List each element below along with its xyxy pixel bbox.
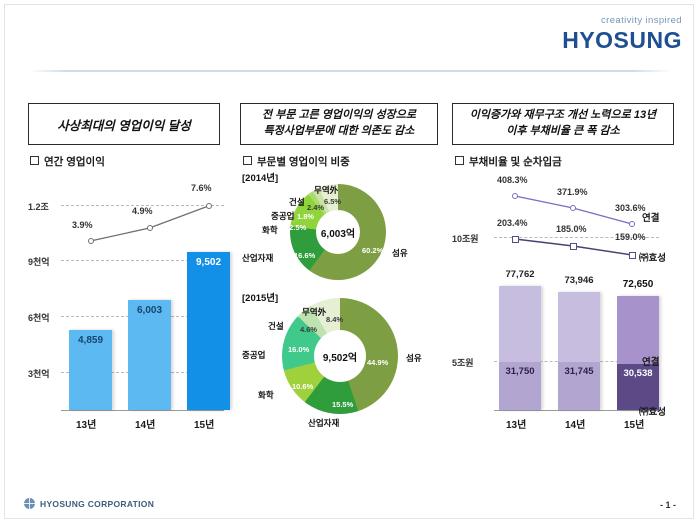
- stacked-bar-14: 31,745: [558, 292, 600, 410]
- donut-2014-pct-heavy: 1.8%: [297, 212, 314, 221]
- bar-13: 4,859: [69, 330, 112, 410]
- legend-hyosung-top: ㈜효성: [639, 250, 666, 264]
- donut-2015-label-sumyu: 섬유: [406, 352, 422, 364]
- footer-company: HYOSUNG CORPORATION: [40, 499, 154, 509]
- line-point-15: [206, 203, 212, 209]
- stacked-bar-15-total-label: 72,650: [614, 279, 662, 290]
- line-point-13: [88, 238, 94, 244]
- donut-2014-label-industrial: 산업자재: [242, 252, 273, 264]
- brand-tagline: creativity inspired: [562, 16, 682, 26]
- caption-right-text: 부채비율 및 순차입금: [469, 156, 562, 168]
- donut-2014-pct-chemical: 12.5%: [285, 223, 306, 232]
- donut-2014-label-trade: 무역外: [314, 184, 338, 196]
- bullet-square-icon: [30, 156, 39, 165]
- page-number: - 1 -: [660, 500, 676, 510]
- line1-point-14: [570, 205, 576, 211]
- brand-logo: creativity inspired HYOSUNG: [562, 16, 682, 52]
- year-tag-2014: [2014년]: [242, 170, 278, 184]
- line1-point-15: [629, 221, 635, 227]
- line1-point-13: [512, 193, 518, 199]
- donut-2014-label-sumyu: 섬유: [392, 247, 408, 259]
- donut-2014-label-heavy: 중공업: [271, 210, 294, 222]
- caption-left-text: 연간 영업이익: [44, 156, 105, 168]
- donut-2015-pct-sumyu: 44.9%: [367, 358, 388, 367]
- chart-annual-operating-profit: 1.2조 9천억 6천억 3천억 4,859 6,003 9,502 3.9% …: [28, 168, 224, 440]
- stacked-bar-14-total-label: 73,946: [555, 275, 603, 286]
- x-category-label: 13년: [76, 416, 96, 431]
- caption-right: 부채비율 및 순차입금: [455, 154, 562, 169]
- stacked-bar-13-lower-label: 31,750: [499, 362, 541, 410]
- donut-2015-label-heavy: 중공업: [242, 349, 265, 361]
- donut-2014-label-construction: 건설: [289, 196, 305, 208]
- donut-2015-pct-trade: 8.4%: [326, 315, 343, 324]
- legend-consolidated-top: 연결: [642, 210, 659, 224]
- x-category-label: 14년: [135, 416, 155, 431]
- x-axis-line: [61, 410, 224, 411]
- title-box-left-text: 사상최대의 영업이익 달성: [57, 115, 190, 134]
- caption-left: 연간 영업이익: [30, 154, 105, 169]
- bar-value-label: 9,502: [187, 257, 230, 268]
- line2-value-15: 159.0%: [615, 232, 646, 242]
- donut-2015-label-industrial: 산업자재: [308, 417, 339, 429]
- title-box-right: 이익증가와 재무구조 개선 노력으로 13년 이후 부채비율 큰 폭 감소: [452, 103, 674, 145]
- bar-value-label: 4,859: [69, 335, 112, 346]
- x-category-label: 13년: [506, 416, 526, 431]
- bar-15: 9,502: [187, 252, 230, 410]
- donut-2015-pct-industrial: 15.5%: [332, 400, 353, 409]
- line-value-label-14: 4.9%: [132, 206, 153, 216]
- title-box-left: 사상최대의 영업이익 달성: [28, 103, 220, 145]
- stacked-bar-13: 31,750: [499, 286, 541, 410]
- x-category-label: 15년: [194, 416, 214, 431]
- x-axis-line: [494, 410, 659, 411]
- donut-2014-pct-industrial: 16.6%: [294, 251, 315, 260]
- donut-2014-pct-sumyu: 60.2%: [362, 246, 383, 255]
- bullet-square-icon: [455, 156, 464, 165]
- stacked-bar-14-lower-label: 31,745: [558, 362, 600, 410]
- x-category-label: 14년: [565, 416, 585, 431]
- line-value-label-13: 3.9%: [72, 220, 93, 230]
- y-tick-label: 9천억: [28, 255, 50, 268]
- title-box-right-text: 이익증가와 재무구조 개선 노력으로 13년 이후 부채비율 큰 폭 감소: [470, 108, 656, 140]
- donut-2015-label-trade: 무역外: [302, 306, 326, 318]
- title-box-right-line1: 이익증가와 재무구조 개선 노력으로 13년: [470, 109, 656, 121]
- chart-segment-share: [2014년] 6,003억 섬유 산업자재 화학 중공업 건설 무역外 60.…: [240, 168, 446, 440]
- legend-consolidated-bottom: 연결: [642, 354, 659, 368]
- brand-name: HYOSUNG: [562, 29, 682, 52]
- y-tick-label-5jo: 5조원: [452, 356, 474, 369]
- donut-2014-pct-trade: 6.5%: [324, 197, 341, 206]
- y-tick-label: 6천억: [28, 311, 50, 324]
- bullet-square-icon: [243, 156, 252, 165]
- caption-mid-text: 부문별 영업이익 비중: [257, 156, 350, 168]
- y-tick-label-10jo: 10조원: [452, 232, 479, 245]
- footer: HYOSUNG CORPORATION: [24, 498, 154, 509]
- line-value-label-15: 7.6%: [191, 183, 212, 193]
- donut-2015-pct-chemical: 10.6%: [292, 382, 313, 391]
- bar-value-label: 6,003: [128, 305, 171, 316]
- title-box-mid: 전 부문 고른 영업이익의 성장으로 특정사업부문에 대한 의존도 감소: [240, 103, 438, 145]
- donut-2015-label-construction: 건설: [268, 320, 284, 332]
- line1-value-14: 371.9%: [557, 187, 588, 197]
- caption-mid: 부문별 영업이익 비중: [243, 154, 350, 169]
- donut-2015-pct-heavy: 16.0%: [288, 345, 309, 354]
- donut-2015-pct-construction: 4.6%: [300, 325, 317, 334]
- y-tick-label: 1.2조: [28, 200, 49, 213]
- title-box-mid-line1: 전 부문 고른 영업이익의 성장으로: [262, 109, 416, 121]
- chart-debt-ratio-net-borrowings: 10조원 5조원 408.3% 371.9% 303.6% 203.4% 185…: [452, 168, 680, 440]
- title-box-mid-line2: 특정사업부문에 대한 의존도 감소: [264, 125, 415, 137]
- title-box-right-line2: 이후 부채비율 큰 폭 감소: [506, 125, 619, 137]
- year-tag-2015: [2015년]: [242, 290, 278, 304]
- stacked-bar-15: 30,538: [617, 296, 659, 410]
- bar-14: 6,003: [128, 300, 171, 410]
- donut-2014-pct-construction: 2.4%: [307, 203, 324, 212]
- line1-value-13: 408.3%: [497, 175, 528, 185]
- title-box-mid-text: 전 부문 고른 영업이익의 성장으로 특정사업부문에 대한 의존도 감소: [262, 108, 416, 140]
- line2-value-13: 203.4%: [497, 218, 528, 228]
- globe-icon: [24, 498, 35, 509]
- stacked-bar-13-total-label: 77,762: [496, 269, 544, 280]
- donut-2014-center-label: 6,003억: [316, 210, 360, 254]
- line1-value-15: 303.6%: [615, 203, 646, 213]
- donut-2015-label-chemical: 화학: [258, 389, 274, 401]
- header-divider: [28, 70, 672, 72]
- donut-2014-label-chemical: 화학: [262, 224, 278, 236]
- line-point-14: [147, 225, 153, 231]
- donut-2015-center-label: 9,502억: [314, 330, 366, 382]
- line2-point-15: [629, 252, 636, 259]
- line2-point-14: [570, 243, 577, 250]
- x-category-label: 15년: [624, 416, 644, 431]
- y-tick-label: 3천억: [28, 367, 50, 380]
- line2-value-14: 185.0%: [556, 224, 587, 234]
- slide-root: creativity inspired HYOSUNG 사상최대의 영업이익 달…: [0, 0, 700, 525]
- line2-point-13: [512, 236, 519, 243]
